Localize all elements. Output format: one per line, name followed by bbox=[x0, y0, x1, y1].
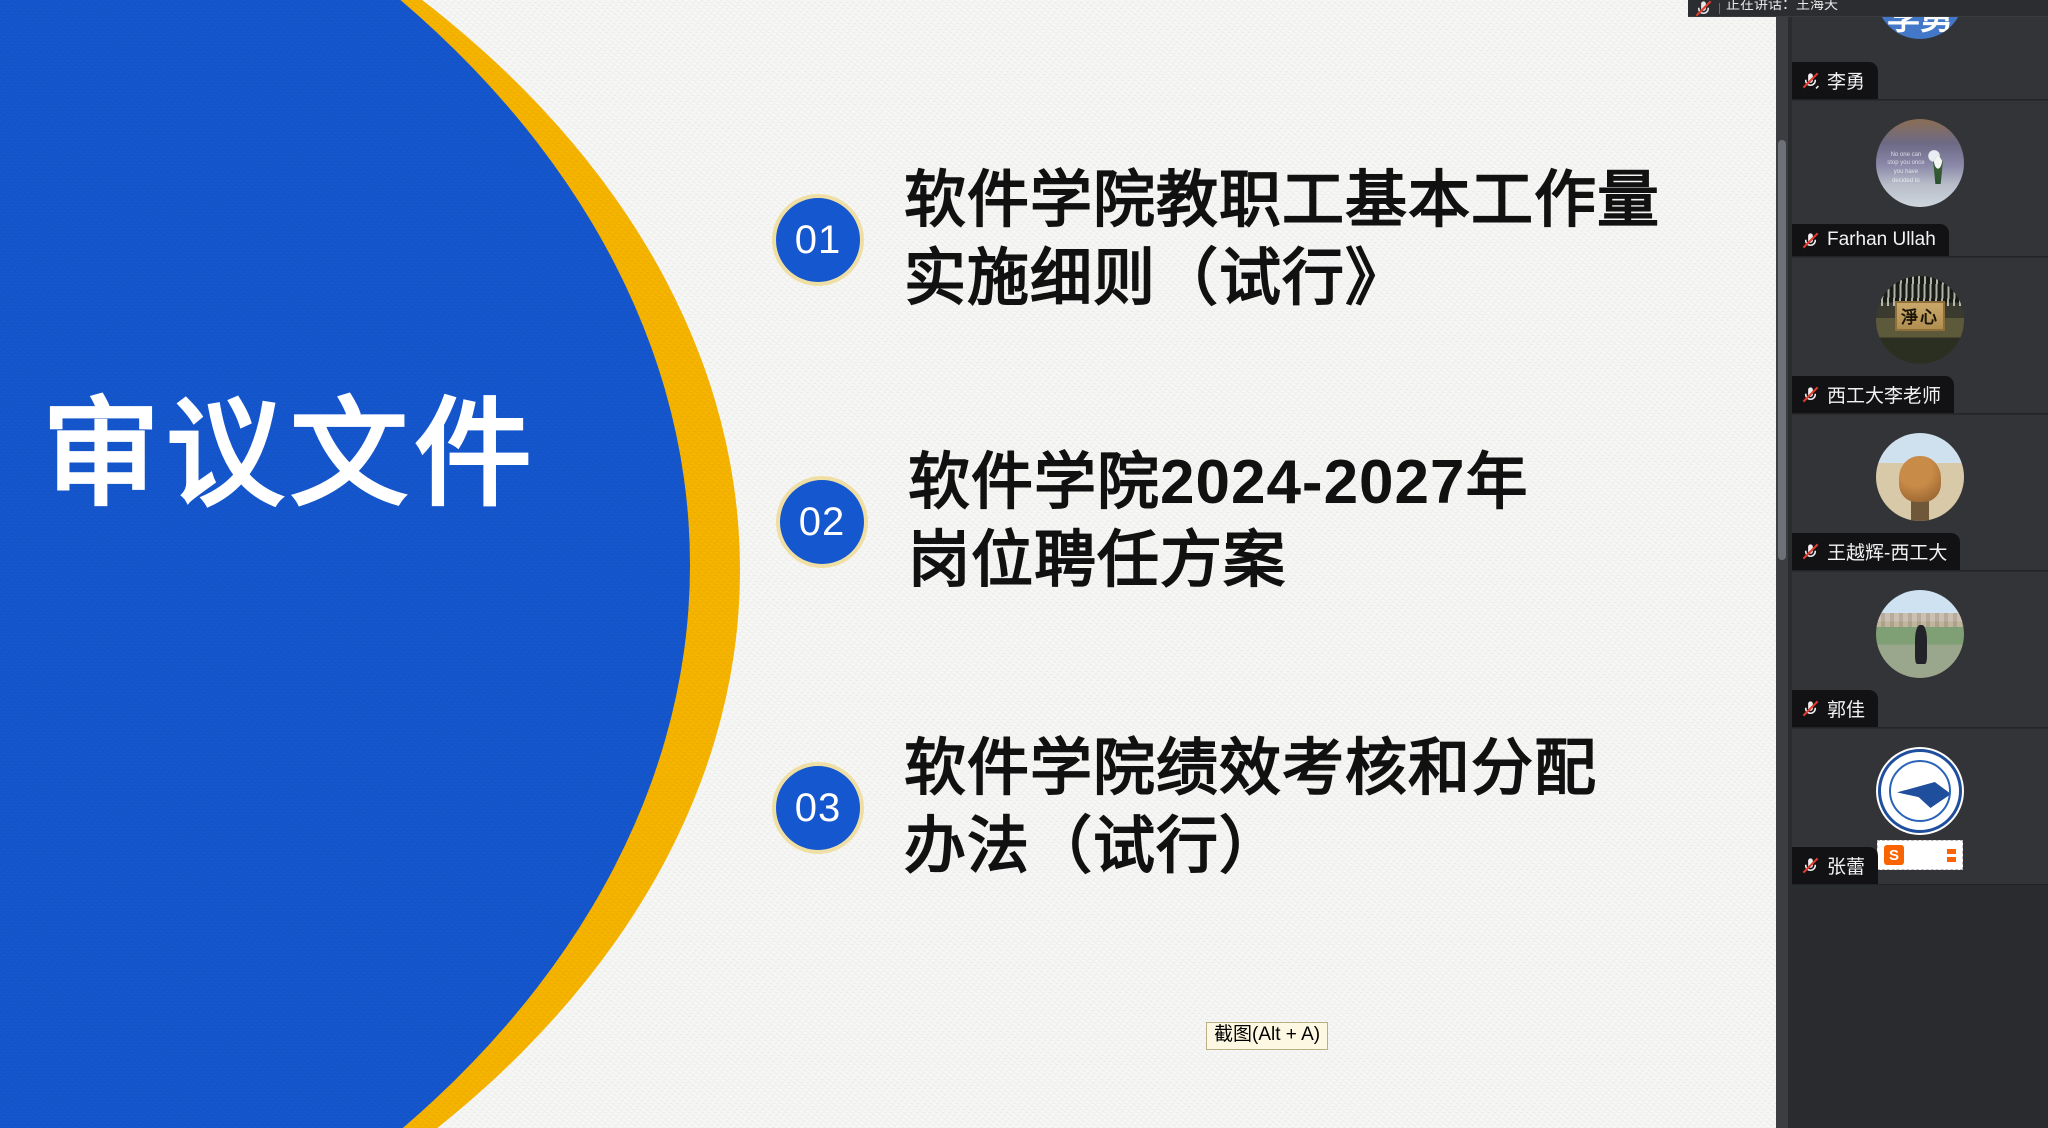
agenda-item-text: 软件学院绩效考核和分配 办法（试行） bbox=[904, 738, 1597, 878]
participant-name: 张蕾 bbox=[1827, 852, 1865, 879]
agenda-list: 01 软件学院教职工基本工作量 实施细则（试行》 02 软件学院2024-202… bbox=[772, 0, 1776, 1128]
mic-off-icon bbox=[1801, 542, 1820, 561]
participant-tile[interactable]: 淨心 西工大李老师 bbox=[1792, 257, 2048, 414]
agenda-line-2: 岗位聘任方案 bbox=[908, 530, 1529, 592]
flower-sprout-graphic bbox=[1927, 154, 1949, 184]
agenda-line-2: 实施细则（试行》 bbox=[904, 248, 1660, 310]
participant-name-chip: 西工大李老师 bbox=[1792, 376, 1954, 413]
cat-graphic bbox=[1899, 456, 1941, 502]
participant-tile[interactable]: 郭佳 bbox=[1792, 571, 2048, 728]
participant-tile[interactable]: S 张蕾 bbox=[1792, 728, 2048, 885]
agenda-number-badge: 01 bbox=[772, 194, 864, 286]
active-speaker-bar: 正在讲话：王海天 bbox=[1688, 0, 2048, 17]
participant-tile[interactable]: 王越辉-西工大 bbox=[1792, 414, 2048, 571]
mic-off-icon bbox=[1801, 71, 1820, 90]
agenda-line-1: 软件学院教职工基本工作量 bbox=[904, 166, 1660, 235]
mic-off-icon bbox=[1801, 856, 1820, 875]
avatar-quote-text: No one can stop you once you have decide… bbox=[1885, 151, 1927, 186]
slide-title: 审议文件 bbox=[42, 388, 682, 524]
ime-mode-indicator bbox=[1947, 849, 1956, 862]
active-speaker-label: 正在讲话：王海天 bbox=[1726, 0, 1838, 14]
avatar: No one can stop you once you have decide… bbox=[1876, 119, 1964, 207]
agenda-item-text: 软件学院教职工基本工作量 实施细则（试行》 bbox=[904, 170, 1660, 310]
participant-name: 西工大李老师 bbox=[1827, 381, 1941, 408]
participant-name-chip: 王越辉-西工大 bbox=[1792, 533, 1960, 570]
mic-off-icon bbox=[1801, 231, 1820, 250]
jet-glyph bbox=[1897, 782, 1951, 808]
participant-tiles: 李勇 李勇 No one can stop you once you have … bbox=[1792, 0, 2048, 885]
agenda-item: 03 软件学院绩效考核和分配 办法（试行） bbox=[772, 738, 1597, 878]
participant-tile[interactable]: No one can stop you once you have decide… bbox=[1792, 100, 2048, 257]
agenda-number-badge: 03 bbox=[772, 762, 864, 854]
mic-off-icon bbox=[1694, 0, 1713, 17]
participant-strip: 正在讲话：王海天 李勇 李勇 bbox=[1776, 0, 2048, 1128]
agenda-line-1: 软件学院2024-2027年 bbox=[908, 448, 1529, 517]
shared-screen-slide[interactable]: 审议文件 01 软件学院教职工基本工作量 实施细则（试行》 02 软件学院202… bbox=[0, 0, 1776, 1128]
participant-name-chip: 李勇 bbox=[1792, 62, 1878, 99]
avatar bbox=[1876, 747, 1964, 835]
scrollbar-thumb[interactable] bbox=[1778, 140, 1786, 560]
participant-name: 王越辉-西工大 bbox=[1827, 538, 1947, 565]
agenda-item: 02 软件学院2024-2027年 岗位聘任方案 bbox=[776, 452, 1529, 592]
participant-name: 李勇 bbox=[1827, 67, 1865, 94]
mic-off-icon bbox=[1801, 385, 1820, 404]
avatar bbox=[1876, 590, 1964, 678]
ime-status-badge[interactable]: S bbox=[1877, 840, 1963, 870]
sogou-logo-icon: S bbox=[1884, 845, 1904, 865]
screenshot-shortcut-tooltip: 截图(Alt + A) bbox=[1206, 1022, 1328, 1050]
participant-name: 郭佳 bbox=[1827, 695, 1865, 722]
avatar: 淨心 bbox=[1876, 276, 1964, 364]
participant-name-chip: 郭佳 bbox=[1792, 690, 1878, 727]
agenda-line-2: 办法（试行） bbox=[904, 816, 1597, 878]
wooden-sign-text: 淨心 bbox=[1895, 301, 1944, 331]
agenda-item: 01 软件学院教职工基本工作量 实施细则（试行》 bbox=[772, 170, 1660, 310]
agenda-number-badge: 02 bbox=[776, 476, 868, 568]
participant-strip-scrollbar[interactable] bbox=[1776, 0, 1788, 1128]
participant-name-chip: Farhan Ullah bbox=[1792, 224, 1949, 256]
agenda-item-text: 软件学院2024-2027年 岗位聘任方案 bbox=[908, 452, 1529, 592]
speaker-bar-divider bbox=[1719, 3, 1720, 14]
participant-name: Farhan Ullah bbox=[1827, 229, 1936, 251]
mic-off-icon bbox=[1801, 699, 1820, 718]
participant-name-chip: 张蕾 bbox=[1792, 847, 1878, 884]
agenda-line-1: 软件学院绩效考核和分配 bbox=[904, 734, 1597, 803]
npu-logo-icon bbox=[1878, 749, 1962, 833]
avatar bbox=[1876, 433, 1964, 521]
person-graphic bbox=[1915, 625, 1927, 664]
screen-root: 审议文件 01 软件学院教职工基本工作量 实施细则（试行》 02 软件学院202… bbox=[0, 0, 2048, 1128]
